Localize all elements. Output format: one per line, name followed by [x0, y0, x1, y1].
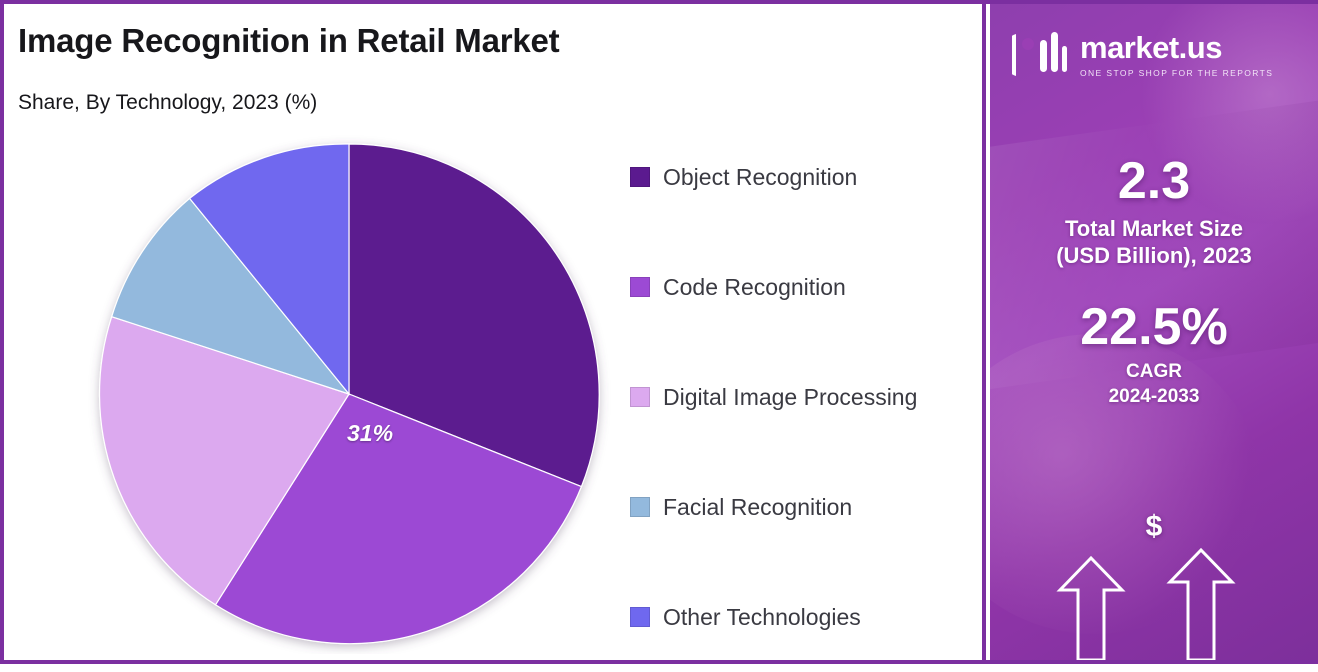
arrow-up-icon	[1060, 558, 1122, 660]
key-stats: 2.3 Total Market Size (USD Billion), 202…	[990, 154, 1318, 410]
pie-data-label: 31%	[347, 420, 393, 447]
chart-panel: Image Recognition in Retail Market Share…	[4, 4, 986, 660]
currency-icon: $	[990, 510, 1318, 544]
legend-swatch-icon	[630, 387, 650, 407]
chart-legend: Object Recognition Code Recognition Digi…	[630, 122, 980, 672]
legend-label: Object Recognition	[663, 164, 857, 191]
legend-label: Other Technologies	[663, 604, 861, 631]
legend-swatch-icon	[630, 497, 650, 517]
brand-logo[interactable]: market.us ONE STOP SHOP FOR THE REPORTS	[1012, 30, 1273, 80]
market-size-label-line2: (USD Billion), 2023	[990, 242, 1318, 270]
summary-panel: market.us ONE STOP SHOP FOR THE REPORTS …	[990, 4, 1318, 660]
brand-tagline: ONE STOP SHOP FOR THE REPORTS	[1080, 68, 1273, 78]
stat-spacer	[990, 270, 1318, 300]
market-size-value: 2.3	[990, 154, 1318, 209]
legend-swatch-icon	[630, 277, 650, 297]
legend-label: Digital Image Processing	[663, 384, 917, 411]
legend-swatch-icon	[630, 167, 650, 187]
legend-item-facial-recognition[interactable]: Facial Recognition	[630, 452, 980, 562]
legend-item-object-recognition[interactable]: Object Recognition	[630, 122, 980, 232]
cagr-value: 22.5%	[990, 300, 1318, 355]
legend-swatch-icon	[630, 607, 650, 627]
pie-chart: 31%	[79, 134, 619, 654]
market-us-logo-icon	[1012, 30, 1068, 80]
chart-subtitle: Share, By Technology, 2023 (%)	[18, 91, 317, 115]
legend-item-digital-image-processing[interactable]: Digital Image Processing	[630, 342, 980, 452]
cagr-label: CAGR	[990, 360, 1318, 385]
legend-label: Code Recognition	[663, 274, 846, 301]
legend-label: Facial Recognition	[663, 494, 852, 521]
cagr-period: 2024-2033	[990, 385, 1318, 410]
pie-chart-svg	[79, 134, 619, 654]
brand-text: market.us ONE STOP SHOP FOR THE REPORTS	[1080, 32, 1273, 78]
infographic-page: Image Recognition in Retail Market Share…	[0, 0, 1318, 664]
page-title: Image Recognition in Retail Market	[18, 22, 559, 60]
brand-name: market.us	[1080, 32, 1273, 63]
legend-item-code-recognition[interactable]: Code Recognition	[630, 232, 980, 342]
growth-arrows-graphic: $	[990, 500, 1318, 660]
arrow-up-icon	[1170, 550, 1232, 660]
legend-item-other-technologies[interactable]: Other Technologies	[630, 562, 980, 672]
market-size-label-line1: Total Market Size	[990, 215, 1318, 243]
